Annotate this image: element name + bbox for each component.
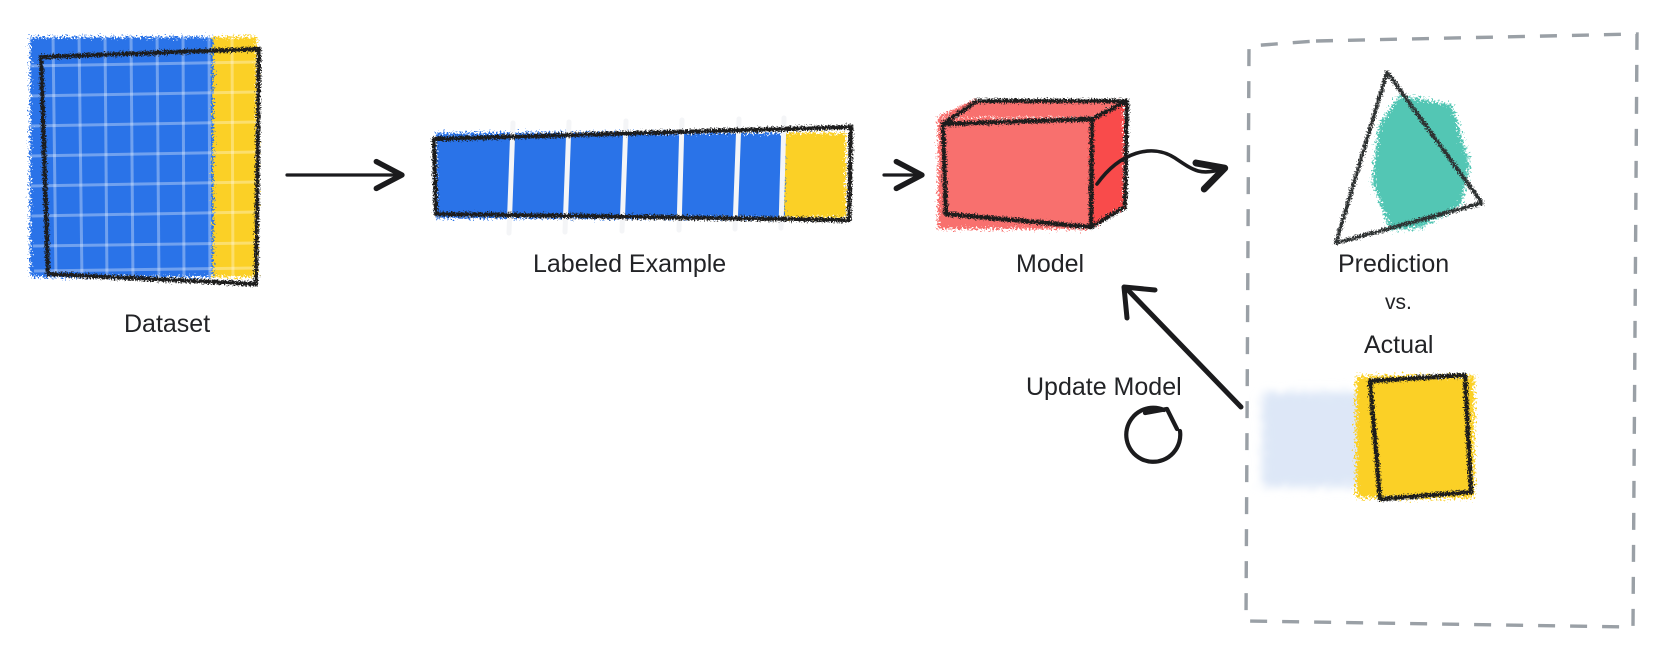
label-labeled-example: Labeled Example: [533, 250, 726, 279]
node-prediction[interactable]: [1336, 72, 1482, 243]
label-versus: vs.: [1385, 291, 1412, 315]
label-update-model: Update Model: [1026, 373, 1182, 402]
model-front-fill: [938, 117, 1090, 229]
node-dataset[interactable]: [27, 31, 259, 286]
label-model: Model: [1016, 250, 1084, 279]
labeled-example-blue-fill: [436, 133, 784, 218]
node-model[interactable]: [938, 99, 1127, 229]
node-labeled-example[interactable]: [434, 118, 851, 233]
diagram-canvas: Dataset Labeled Example Model Update Mod…: [0, 0, 1660, 668]
refresh-icon: [1126, 408, 1180, 462]
label-dataset: Dataset: [124, 310, 210, 339]
dataset-yellow-column: [213, 37, 257, 277]
labeled-example-yellow-cell: [784, 133, 846, 218]
label-prediction: Prediction: [1338, 250, 1449, 279]
label-actual: Actual: [1364, 331, 1433, 360]
node-actual[interactable]: [1262, 375, 1474, 499]
